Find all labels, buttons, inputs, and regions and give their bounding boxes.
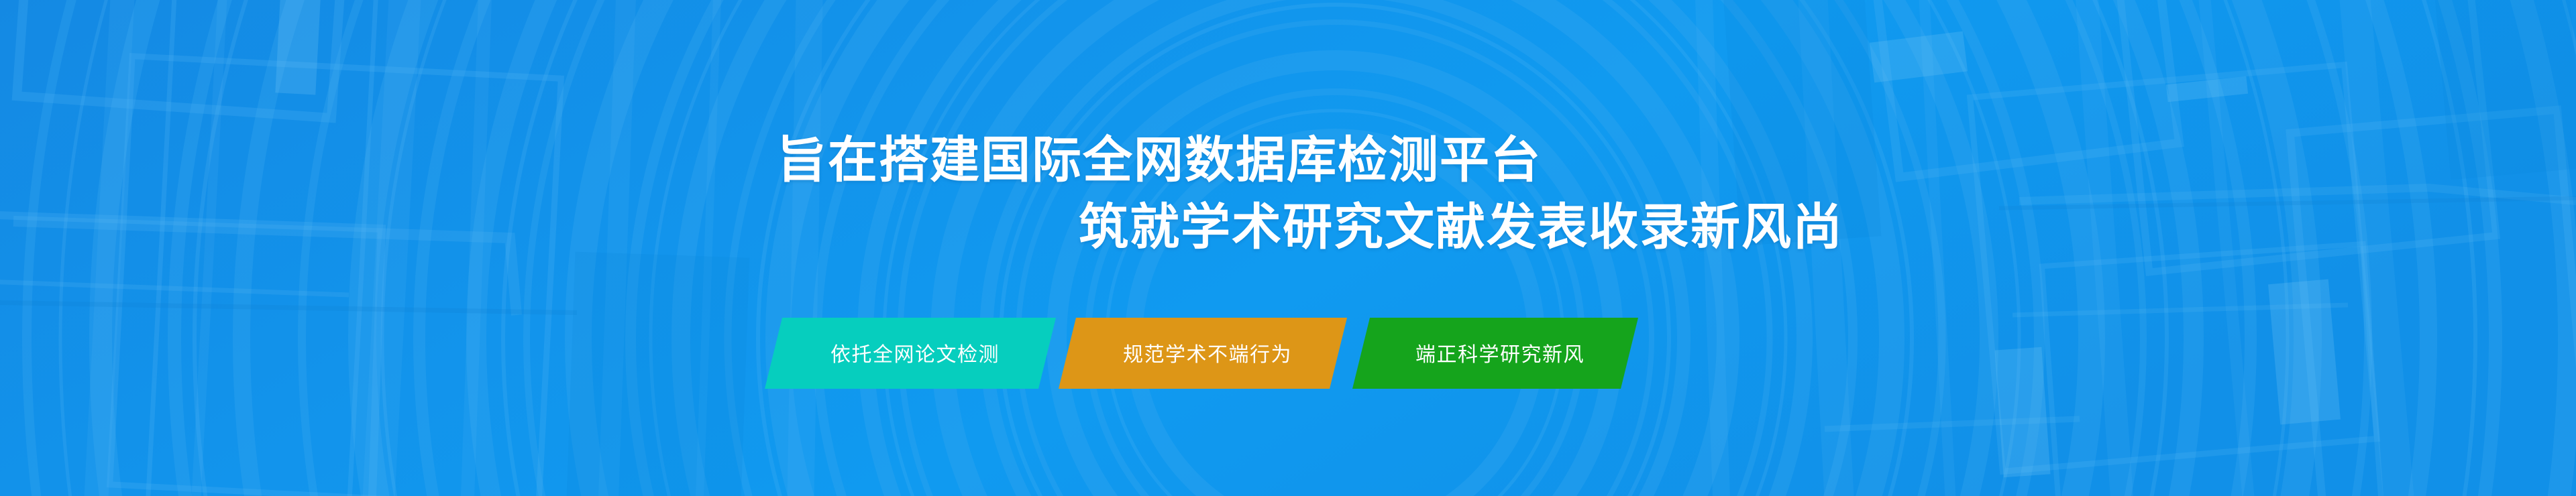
feature-tag-3-label: 端正科学研究新风 bbox=[1415, 338, 1585, 367]
feature-tag-strip: 依托全网论文检测 规范学术不端行为 端正科学研究新风 bbox=[765, 318, 1811, 389]
promo-banner: 旨在搭建国际全网数据库检测平台 筑就学术研究文献发表收录新风尚 依托全网论文检测… bbox=[0, 0, 2576, 496]
headline-line-1: 旨在搭建国际全网数据库检测平台 bbox=[777, 135, 1542, 185]
headline-block: 旨在搭建国际全网数据库检测平台 筑就学术研究文献发表收录新风尚 bbox=[0, 0, 2576, 496]
headline-line-2: 筑就学术研究文献发表收录新风尚 bbox=[1079, 202, 1843, 252]
feature-tag-1[interactable]: 依托全网论文检测 bbox=[765, 318, 1056, 389]
feature-tag-2[interactable]: 规范学术不端行为 bbox=[1059, 318, 1347, 389]
feature-tag-3[interactable]: 端正科学研究新风 bbox=[1352, 318, 1638, 389]
feature-tag-2-label: 规范学术不端行为 bbox=[1123, 338, 1292, 367]
feature-tag-1-label: 依托全网论文检测 bbox=[830, 338, 1000, 367]
